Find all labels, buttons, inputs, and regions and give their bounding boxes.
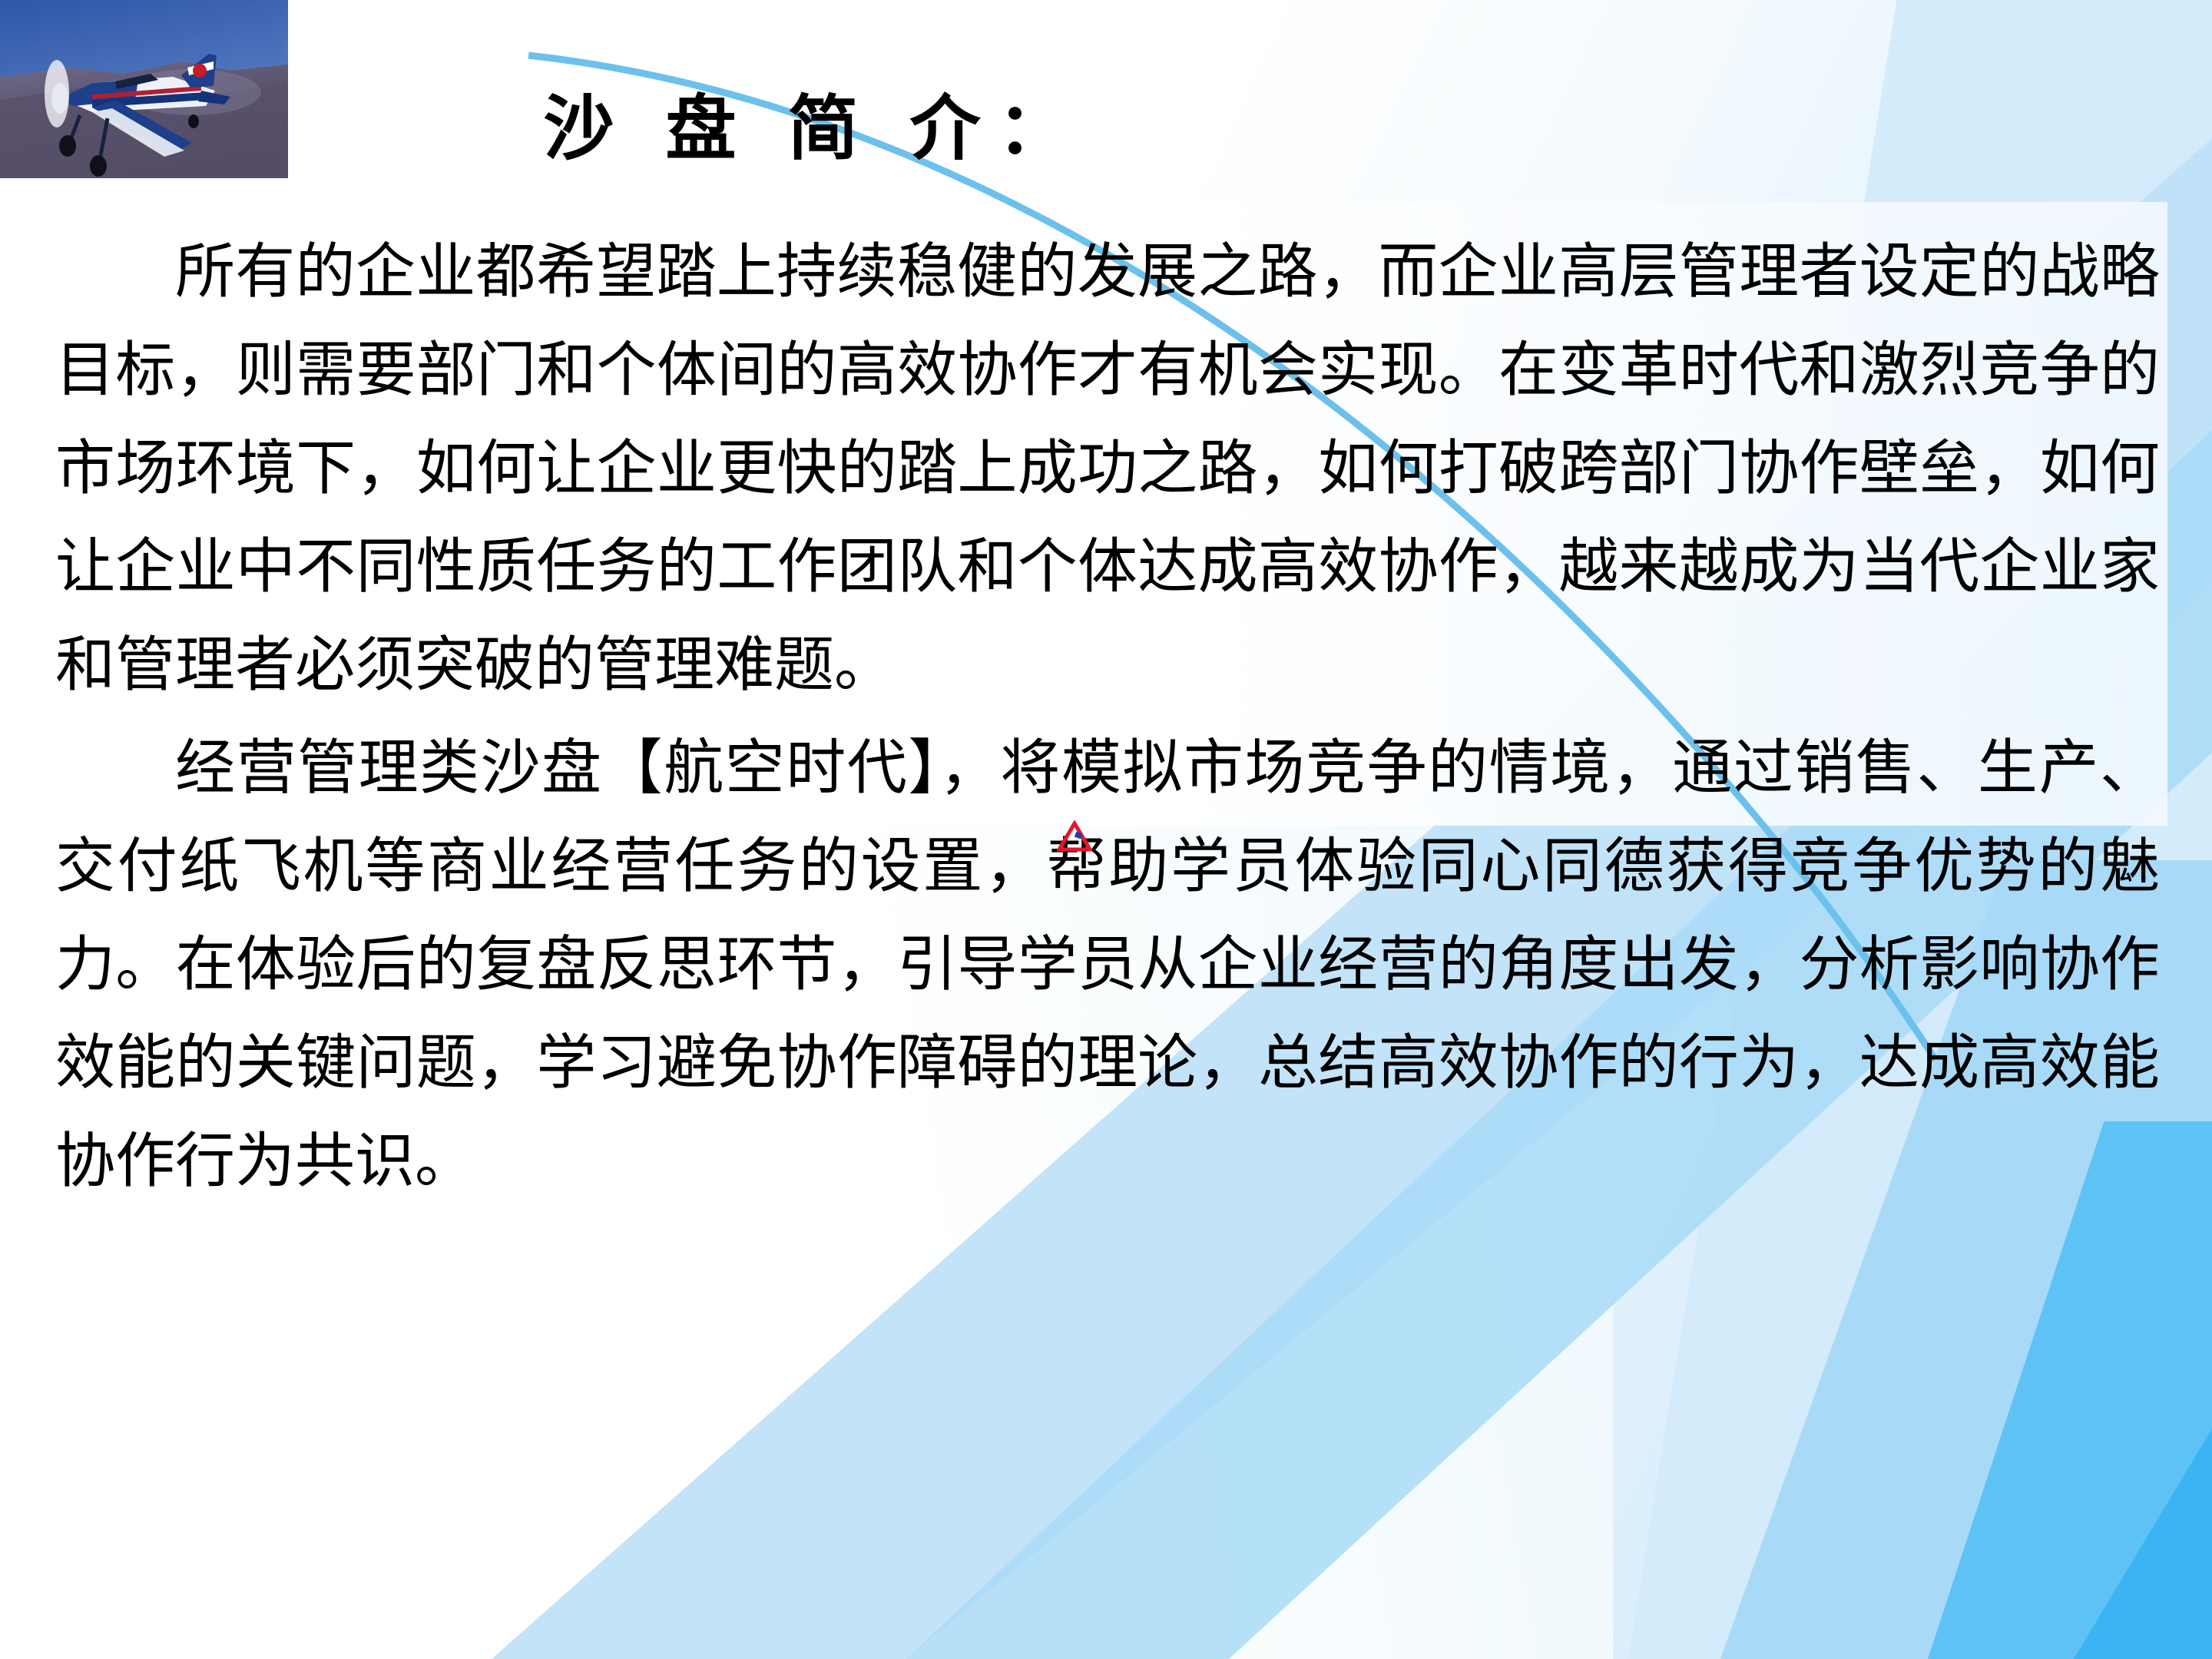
airplane-photo xyxy=(0,0,288,178)
red-triangle-marker-icon xyxy=(1057,820,1092,853)
paragraph-2: 经营管理类沙盘【航空时代】，将模拟市场竞争的情境，通过销售、生产、交付纸飞机等商… xyxy=(55,719,2160,1210)
airplane-photo-image xyxy=(0,0,288,178)
slide-title: 沙 盘 简 介： xyxy=(430,91,1198,168)
slide-canvas: 沙 盘 简 介： 所有的企业都希望踏上持续稳健的发展之路，而企业高层管理者设定的… xyxy=(0,0,2212,1659)
body-content: 所有的企业都希望踏上持续稳健的发展之路，而企业高层管理者设定的战略目标，则需要部… xyxy=(55,223,2160,1215)
paragraph-1: 所有的企业都希望踏上持续稳健的发展之路，而企业高层管理者设定的战略目标，则需要部… xyxy=(55,223,2160,714)
